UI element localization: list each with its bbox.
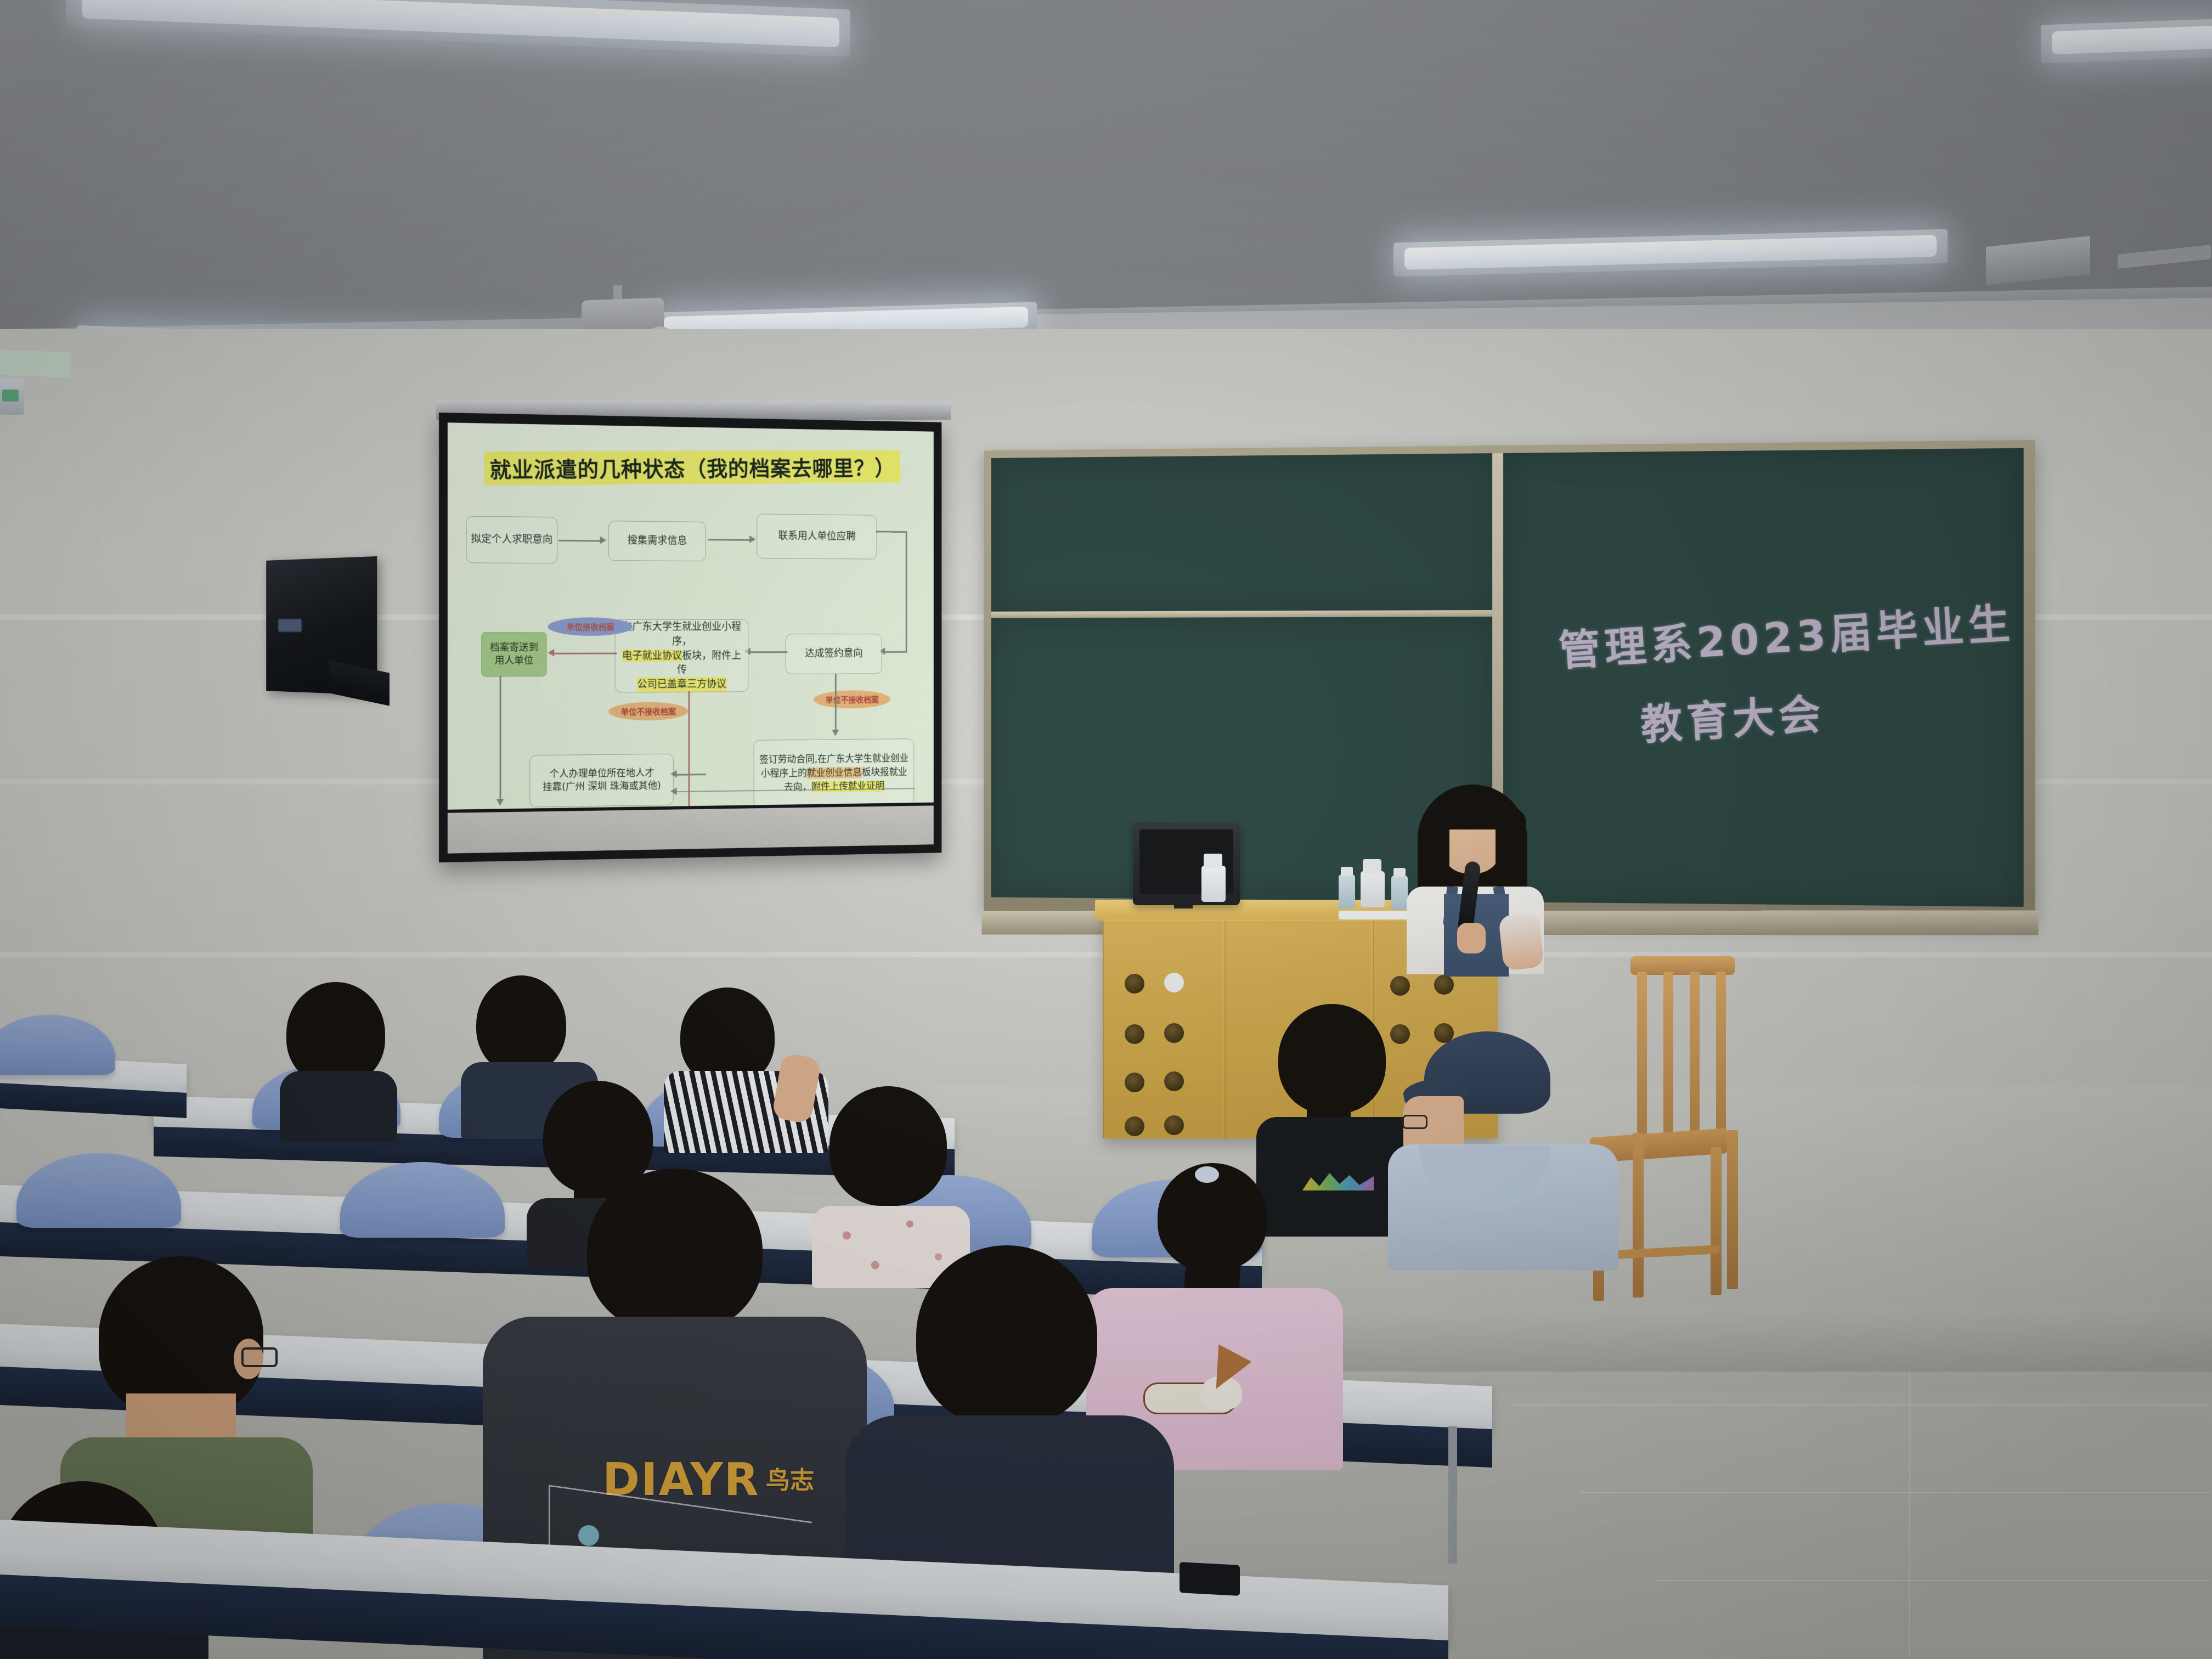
slide-node-2: 搜集需求信息 [608, 521, 706, 561]
blackboard-panel-right [1503, 448, 2024, 907]
slide-conn-right-down [835, 674, 837, 732]
slide-node-4-label: 达成签约意向 [805, 647, 863, 661]
tshirt-dot-graphic [578, 1525, 599, 1546]
hand-sanitizer-right-pump [1363, 859, 1381, 873]
wall-green-strip [0, 350, 71, 378]
slide-arrowhead-right-down [832, 730, 839, 736]
chair-back-slat [1637, 972, 1647, 1136]
podium-vent-hole [1125, 1073, 1144, 1092]
speaker-hand [1457, 923, 1486, 953]
slide-wrap-side [906, 531, 907, 652]
slide-node-5-hl2: 公司已盖章三方协议 [637, 678, 726, 692]
slide-node-1-label: 拟定个人求职意向 [471, 533, 552, 547]
slide-node-5-line1: 在广东大学生就业创业小程序， [619, 619, 743, 648]
slide-oval-reject-left-label: 单位不接收档案 [621, 706, 676, 717]
student-head [286, 982, 385, 1085]
slide-node-7-row2: 小程序上的就业创业信息板块报就业 [761, 765, 907, 781]
slide-node-1: 拟定个人求职意向 [466, 516, 558, 564]
hand-sanitizer-left [1201, 866, 1226, 902]
tshirt-cn-mark: 鸟志 [766, 1460, 814, 1496]
floor-tile-seam-1 [1514, 1404, 2211, 1406]
slide-node-5-text2: 电子就业协议板块，附件上传 [619, 648, 743, 678]
slide-node-8: 个人办理单位所在地人才 挂靠(广州 深圳 珠海或其他) [529, 754, 673, 808]
slide-oval-reject-right: 单位不接收档案 [814, 690, 890, 709]
slide-arrow-to-8a [675, 774, 706, 776]
podium-vent-hole [1164, 1023, 1184, 1043]
chair-back-slat [1663, 972, 1673, 1136]
student-row2-blue-cap [1388, 1031, 1618, 1273]
slide-arrowhead-accept [548, 649, 555, 657]
slide-node-5: 在广东大学生就业创业小程序， 电子就业协议板块，附件上传 公司已盖章三方协议 [615, 619, 749, 693]
student-head [916, 1245, 1097, 1426]
student-head [587, 1169, 763, 1333]
classroom-photo: 就业派遣的几种状态（我的档案去哪里？） 拟定个人求职意向 搜集需求信息 联系用人… [0, 0, 2212, 1659]
podium-panel-left [1103, 921, 1223, 1138]
student-head [99, 1256, 263, 1415]
chair-back-slat [1690, 972, 1700, 1136]
water-bottle-1-cap [1341, 867, 1353, 876]
student-head [830, 1086, 947, 1206]
slide-oval-accept-label: 单位接收档案 [567, 621, 614, 633]
podium-vent-hole [1434, 975, 1454, 995]
slide-title: 就业派遣的几种状态（我的档案去哪里？） [484, 450, 901, 485]
slide-oval-accept: 单位接收档案 [548, 617, 633, 636]
slide-node-2-label: 搜集需求信息 [628, 534, 687, 549]
speaker-person [1404, 779, 1547, 960]
slide-node-7-line3: 板块报就业 [862, 766, 907, 778]
floor-tile-seam-2 [1580, 1492, 2211, 1493]
slide-node-7: 签订劳动合同,在广东大学生就业创业 小程序上的就业创业信息板块报就业 去向，附件… [754, 738, 915, 808]
slide-node-8-line1: 个人办理单位所在地人才 [550, 767, 654, 781]
podium-vent-hole [1164, 1071, 1184, 1091]
slide-node-7-line4: 去向， [784, 781, 811, 793]
slide-arrowhead-to-8a [670, 770, 676, 778]
student-row1-striped [664, 988, 828, 1152]
slide-node-5-hl1: 电子就业协议 [622, 650, 682, 662]
projection-screen: 就业派遣的几种状态（我的档案去哪里？） 拟定个人求职意向 搜集需求信息 联系用人… [439, 413, 941, 862]
slide-wrap-top [876, 531, 907, 533]
slide-node-5-line2: 板块，附件上传 [677, 650, 741, 676]
chair-leg-front-right [1711, 1147, 1722, 1295]
podium-vent-hole [1164, 973, 1184, 992]
blackboard-text-line-2: 教育大会 [1639, 680, 1826, 752]
podium-vent-hole [1390, 976, 1410, 996]
podium-vent-hole [1125, 1116, 1144, 1136]
slide-node-6: 档案寄送到用人单位 [481, 632, 547, 677]
slide-node-3-label: 联系用人单位应聘 [778, 529, 856, 544]
podium-vent-hole [1164, 1115, 1184, 1135]
slide-node-7-row3: 去向，附件上传就业证明 [784, 780, 884, 795]
student-row1-bob [280, 982, 400, 1136]
screen-bottom-bar [448, 805, 934, 853]
slide-node-7-hl1: 就业创业信息 [807, 767, 862, 778]
slide-arrowhead-to-8b [670, 787, 676, 795]
slide-node-4: 达成签约意向 [786, 634, 882, 674]
chair-back-slat [1716, 972, 1726, 1136]
slide-conn-left-down [500, 676, 501, 803]
phone-on-desk [1180, 1562, 1240, 1596]
slide-node-8-line2: 挂靠(广州 深圳 珠海或其他) [543, 780, 661, 794]
podium-vent-hole [1125, 974, 1144, 994]
slide-wrap-bottom [885, 651, 907, 653]
presentation-slide: 就业派遣的几种状态（我的档案去哪里？） 拟定个人求职意向 搜集需求信息 联系用人… [448, 422, 934, 809]
floor-tile-seam-3 [1657, 1580, 2211, 1581]
slide-oval-reject-right-label: 单位不接收档案 [826, 693, 879, 705]
slide-node-7-line2: 小程序上的 [761, 768, 807, 779]
hand-sanitizer-left-pump [1204, 854, 1222, 868]
desk-row-3-leg [1448, 1426, 1457, 1564]
podium-vent-hole [1125, 1024, 1144, 1044]
water-bottle-1 [1339, 874, 1355, 909]
slide-arrow-accept [553, 653, 617, 654]
chair-leg-back-right [1727, 1130, 1738, 1289]
hair-clip [1195, 1166, 1219, 1183]
student-body [280, 1071, 397, 1142]
blackboard-panel-left-upper [991, 453, 1494, 614]
slide-arrow-1 [558, 540, 601, 542]
slide-arrowhead-2 [749, 535, 755, 543]
floor-tile-seam-vertical [1909, 1372, 1910, 1657]
water-bottle-2-cap [1393, 868, 1406, 877]
slide-oval-reject-left: 单位不接收档案 [608, 702, 688, 720]
slide-arrow-3 [749, 651, 787, 653]
glasses-icon [1402, 1115, 1427, 1129]
slide-node-7-hl2: 附件上传就业证明 [811, 781, 884, 793]
speaker-arm [1498, 912, 1544, 970]
chair-leg-back-left [1633, 1133, 1644, 1297]
slide-node-3: 联系用人单位应聘 [757, 513, 877, 559]
slide-node-7-line1: 签订劳动合同,在广东大学生就业创业 [759, 752, 909, 767]
glasses-icon [241, 1347, 278, 1367]
student-head [476, 975, 566, 1074]
slide-arrowhead-1 [600, 537, 607, 544]
hand-sanitizer-right [1361, 871, 1385, 907]
emergency-light-indicator [2, 390, 19, 402]
slide-arrowhead-left-down [496, 799, 504, 805]
slide-arrow-2 [708, 539, 751, 541]
slide-node-6-label: 档案寄送到用人单位 [486, 641, 542, 667]
podium-papers [1339, 911, 1410, 919]
